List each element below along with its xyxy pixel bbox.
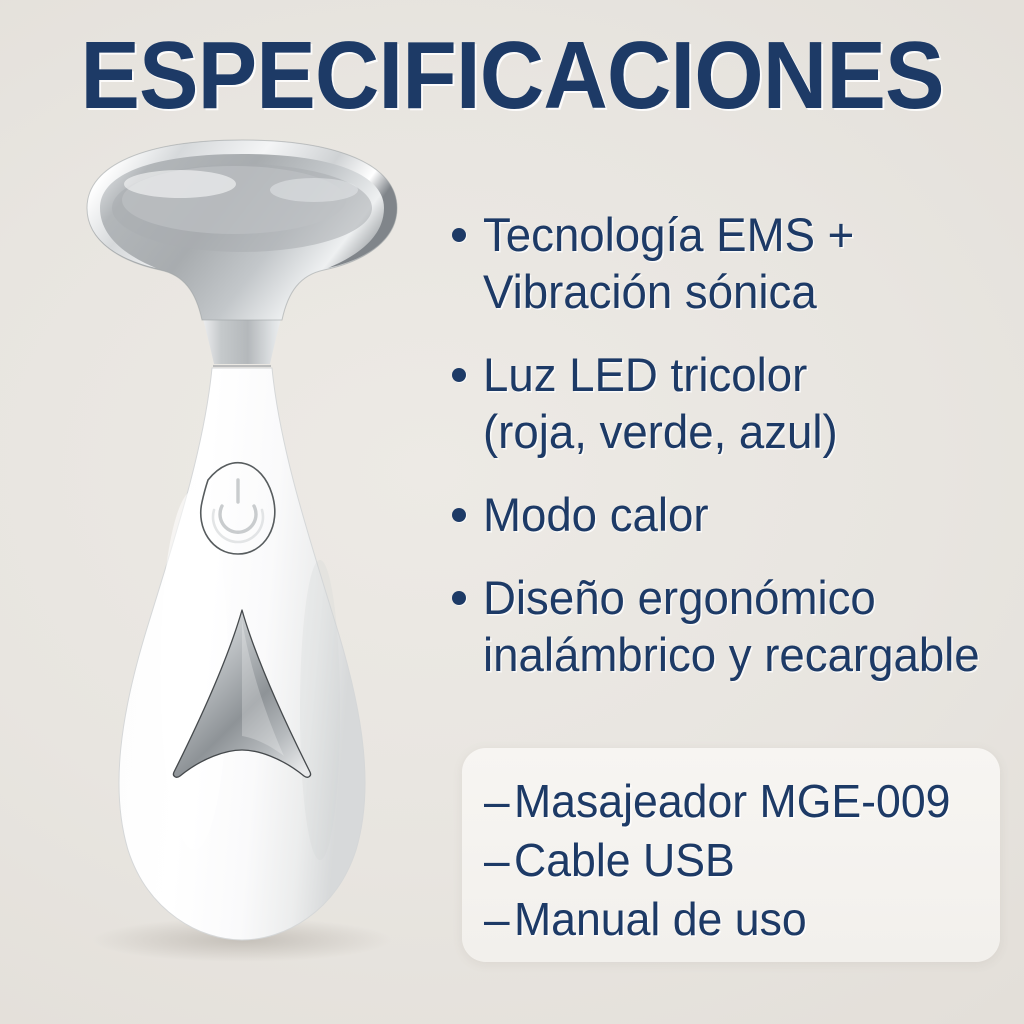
page-title: ESPECIFICACIONES	[36, 28, 988, 124]
specs-list: Tecnología EMS + Vibración sónica Luz LE…	[452, 206, 1014, 709]
list-item: Luz LED tricolor (roja, verde, azul)	[452, 346, 1014, 460]
bullet-icon	[452, 228, 466, 242]
list-item: Modo calor	[452, 486, 1014, 543]
list-item: – Cable USB	[484, 833, 1000, 888]
contents-text: Cable USB	[514, 833, 985, 888]
dash-icon: –	[484, 892, 514, 947]
list-item: – Manual de uso	[484, 892, 1000, 947]
bullet-icon	[452, 591, 466, 605]
spec-text: Modo calor	[483, 486, 998, 543]
list-item: – Masajeador MGE-009	[484, 774, 1000, 829]
contents-text: Masajeador MGE-009	[514, 774, 985, 829]
spec-text: Diseño ergonómico inalámbrico y recargab…	[483, 569, 998, 683]
bullet-icon	[452, 368, 466, 382]
specification-poster: ESPECIFICACIONES	[0, 0, 1024, 1024]
dash-icon: –	[484, 833, 514, 888]
bullet-icon	[452, 508, 466, 522]
dash-icon: –	[484, 774, 514, 829]
list-item: Diseño ergonómico inalámbrico y recargab…	[452, 569, 1014, 683]
product-image	[62, 150, 422, 950]
list-item: Tecnología EMS + Vibración sónica	[452, 206, 1014, 320]
spec-text: Tecnología EMS + Vibración sónica	[483, 206, 998, 320]
contents-card: – Masajeador MGE-009 – Cable USB – Manua…	[462, 748, 1000, 962]
spec-text: Luz LED tricolor (roja, verde, azul)	[483, 346, 998, 460]
contents-text: Manual de uso	[514, 892, 985, 947]
